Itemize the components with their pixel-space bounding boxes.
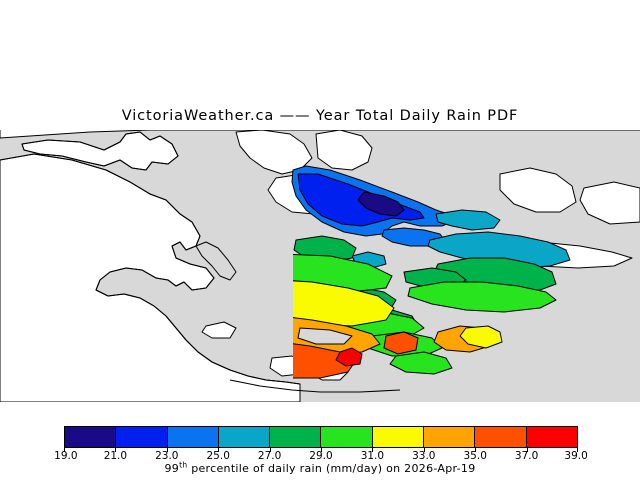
colorbar-segment-31-33[interactable] — [373, 427, 424, 447]
colorbar-caption: 99th percentile of daily rain (mm/day) o… — [0, 462, 640, 475]
colorbar-tick-label: 37.0 — [515, 450, 538, 462]
colorbar-tick-label: 27.0 — [258, 450, 281, 462]
colorbar-segment-33-35[interactable] — [424, 427, 475, 447]
colorbar-tick-label: 19.0 — [54, 450, 77, 462]
colorbar-segment-19-21[interactable] — [65, 427, 116, 447]
colorbar-segment-29-31[interactable] — [321, 427, 372, 447]
colorbar-tick-label: 35.0 — [463, 450, 486, 462]
colorbar-segment-35-37[interactable] — [475, 427, 526, 447]
colorbar-segment-27-29[interactable] — [270, 427, 321, 447]
colorbar-segment-23-25[interactable] — [168, 427, 219, 447]
colorbar[interactable] — [64, 426, 578, 448]
map-svg — [0, 130, 640, 402]
band-35-37-orange-islet — [384, 332, 418, 354]
colorbar-tick-label: 21.0 — [104, 450, 127, 462]
colorbar-block: 19.021.023.025.027.029.031.033.035.037.0… — [64, 426, 578, 461]
colorbar-tick-label: 25.0 — [206, 450, 229, 462]
colorbar-tick-label: 23.0 — [155, 450, 178, 462]
caption-rest: percentile of daily rain (mm/day) on 202… — [187, 462, 475, 475]
colorbar-tick-label: 31.0 — [361, 450, 384, 462]
colorbar-tick-axis: 19.021.023.025.027.029.031.033.035.037.0… — [64, 448, 578, 461]
map-canvas — [0, 130, 640, 402]
page-title: VictoriaWeather.ca —— Year Total Daily R… — [0, 108, 640, 124]
colorbar-segment-25-27[interactable] — [219, 427, 270, 447]
caption-percentile-number: 99 — [165, 462, 180, 475]
colorbar-segment-21-23[interactable] — [116, 427, 167, 447]
colorbar-segment-37-39[interactable] — [527, 427, 577, 447]
colorbar-tick-label: 39.0 — [564, 450, 587, 462]
colorbar-tick-label: 33.0 — [412, 450, 435, 462]
colorbar-tick-label: 29.0 — [309, 450, 332, 462]
weather-map-page: VictoriaWeather.ca —— Year Total Daily R… — [0, 0, 640, 480]
